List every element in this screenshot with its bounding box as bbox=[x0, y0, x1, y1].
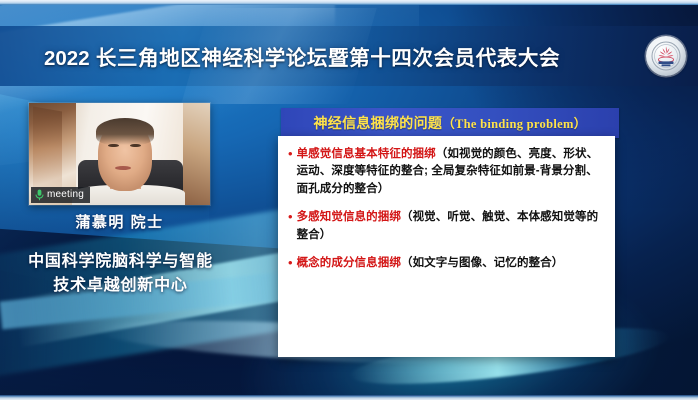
speaker-video-tile[interactable]: meeting bbox=[29, 103, 210, 205]
event-year: 2022 bbox=[44, 47, 90, 70]
event-title: 2022 长三角地区神经科学论坛暨第十四次会员代表大会 bbox=[44, 41, 560, 71]
video-wood-beam-right bbox=[183, 103, 210, 205]
slide-title: 神经信息捆绑的问题（The binding problem） bbox=[313, 113, 586, 133]
bullet-highlight: 概念的成分信息捆绑 bbox=[297, 257, 401, 269]
video-person-hair bbox=[96, 118, 154, 145]
speaker-affiliation: 中国科学院脑科学与智能 技术卓越创新中心 bbox=[8, 250, 233, 298]
bullet-highlight: 多感知觉信息的捆绑 bbox=[297, 211, 401, 223]
slide-title-en: （The binding problem） bbox=[442, 117, 586, 131]
meeting-watermark-label: meeting bbox=[47, 190, 84, 200]
event-banner: 2022 长三角地区神经科学论坛暨第十四次会员代表大会 bbox=[0, 26, 698, 86]
society-emblem-icon bbox=[646, 36, 686, 76]
list-item: • 多感知觉信息的捆绑（视觉、听觉、触觉、本体感知觉等的整合） bbox=[288, 209, 606, 244]
bullet-text: 单感觉信息基本特征的捆绑（如视觉的颜色、亮度、形状、运动、深度等特征的整合; 全… bbox=[297, 146, 606, 198]
bullet-text: 概念的成分信息捆绑（如文字与图像、记忆的整合） bbox=[297, 255, 564, 272]
bullet-marker: • bbox=[288, 146, 293, 162]
speaker-affiliation-line2: 技术卓越创新中心 bbox=[8, 274, 233, 298]
speaker-affiliation-line1: 中国科学院脑科学与智能 bbox=[8, 250, 233, 274]
bullet-detail: （如文字与图像、记忆的整合） bbox=[401, 257, 563, 269]
event-title-cn: 长三角地区神经科学论坛暨第十四次会员代表大会 bbox=[96, 47, 560, 70]
top-edge-strip bbox=[0, 0, 698, 5]
slide-title-cn: 神经信息捆绑的问题 bbox=[313, 115, 442, 131]
bullet-highlight: 单感觉信息基本特征的捆绑 bbox=[297, 148, 436, 160]
bottom-edge-strip bbox=[0, 395, 698, 400]
speaker-name: 蒲慕明 院士 bbox=[29, 211, 210, 232]
slide-content-panel: • 单感觉信息基本特征的捆绑（如视觉的颜色、亮度、形状、运动、深度等特征的整合;… bbox=[278, 136, 615, 357]
meeting-watermark-badge: meeting bbox=[31, 187, 90, 203]
slide-title-bar: 神经信息捆绑的问题（The binding problem） bbox=[281, 108, 619, 138]
video-wood-beam-left-inner bbox=[33, 107, 62, 200]
microphone-icon bbox=[35, 189, 44, 201]
bullet-marker: • bbox=[288, 209, 293, 225]
list-item: • 单感觉信息基本特征的捆绑（如视觉的颜色、亮度、形状、运动、深度等特征的整合;… bbox=[288, 146, 606, 198]
list-item: • 概念的成分信息捆绑（如文字与图像、记忆的整合） bbox=[288, 255, 606, 272]
bullet-text: 多感知觉信息的捆绑（视觉、听觉、触觉、本体感知觉等的整合） bbox=[297, 209, 606, 244]
presentation-slide-view: 2022 长三角地区神经科学论坛暨第十四次会员代表大会 bbox=[0, 0, 698, 400]
bullet-marker: • bbox=[288, 255, 293, 271]
